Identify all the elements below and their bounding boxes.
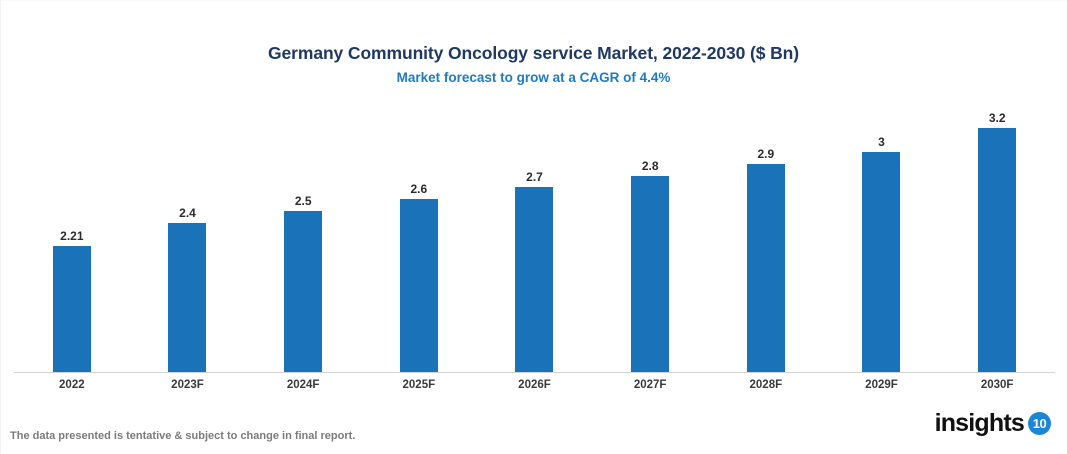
bar-value-label: 2.7 <box>526 170 543 184</box>
bar[interactable] <box>515 187 553 372</box>
category-axis-labels: 20222023F2024F2025F2026F2027F2028F2029F2… <box>14 375 1055 397</box>
bar-group: 3.2 <box>939 110 1055 372</box>
bar-value-label: 2.5 <box>295 194 312 208</box>
bar-group: 2.21 <box>14 110 130 372</box>
bar-group: 2.5 <box>245 110 361 372</box>
bar-column: 3.2 <box>978 110 1016 372</box>
bar[interactable] <box>978 128 1016 372</box>
bar[interactable] <box>862 152 900 372</box>
category-tick-label: 2022 <box>14 375 130 395</box>
bar-column: 2.6 <box>400 110 438 372</box>
bar[interactable] <box>400 199 438 372</box>
chart-title: Germany Community Oncology service Marke… <box>0 42 1067 64</box>
bar-value-label: 2.8 <box>642 159 659 173</box>
bar-column: 2.4 <box>168 110 206 372</box>
chart-figure: Germany Community Oncology service Marke… <box>0 0 1067 454</box>
category-tick-label: 2025F <box>361 375 477 395</box>
bar-group: 3 <box>824 110 940 372</box>
category-tick-label: 2023F <box>130 375 246 395</box>
bar-value-label: 3.2 <box>989 111 1006 125</box>
category-tick-label: 2029F <box>824 375 940 395</box>
bar[interactable] <box>631 176 669 373</box>
bar-column: 2.5 <box>284 110 322 372</box>
bar-value-label: 3 <box>878 135 885 149</box>
bar[interactable] <box>168 223 206 372</box>
category-axis-line <box>14 372 1055 373</box>
bar-group: 2.9 <box>708 110 824 372</box>
category-tick-label: 2028F <box>708 375 824 395</box>
plot-area: 2.212.42.52.62.72.82.933.2 <box>14 110 1055 372</box>
bar-value-label: 2.6 <box>410 182 427 196</box>
bar-column: 2.8 <box>631 110 669 372</box>
category-tick-label: 2030F <box>939 375 1055 395</box>
bar-group: 2.4 <box>130 110 246 372</box>
bar[interactable] <box>747 164 785 372</box>
bar[interactable] <box>284 211 322 372</box>
bar-group: 2.6 <box>361 110 477 372</box>
bar-column: 2.9 <box>747 110 785 372</box>
bar-value-label: 2.4 <box>179 206 196 220</box>
bar-value-label: 2.21 <box>60 229 83 243</box>
category-tick-label: 2026F <box>477 375 593 395</box>
title-block: Germany Community Oncology service Marke… <box>0 42 1067 87</box>
category-tick-label: 2027F <box>592 375 708 395</box>
chart-subtitle: Market forecast to grow at a CAGR of 4.4… <box>0 69 1067 87</box>
bar-group: 2.7 <box>477 110 593 372</box>
logo-wordmark: insights <box>935 410 1024 436</box>
bar-value-label: 2.9 <box>757 147 774 161</box>
bar-column: 2.7 <box>515 110 553 372</box>
category-tick-label: 2024F <box>245 375 361 395</box>
logo-badge-icon: 10 <box>1028 412 1051 435</box>
insights10-logo: insights 10 <box>935 408 1051 438</box>
disclaimer-text: The data presented is tentative & subjec… <box>10 429 355 443</box>
bar-column: 3 <box>862 110 900 372</box>
bar-column: 2.21 <box>53 110 91 372</box>
bar-group: 2.8 <box>592 110 708 372</box>
bar[interactable] <box>53 246 91 372</box>
